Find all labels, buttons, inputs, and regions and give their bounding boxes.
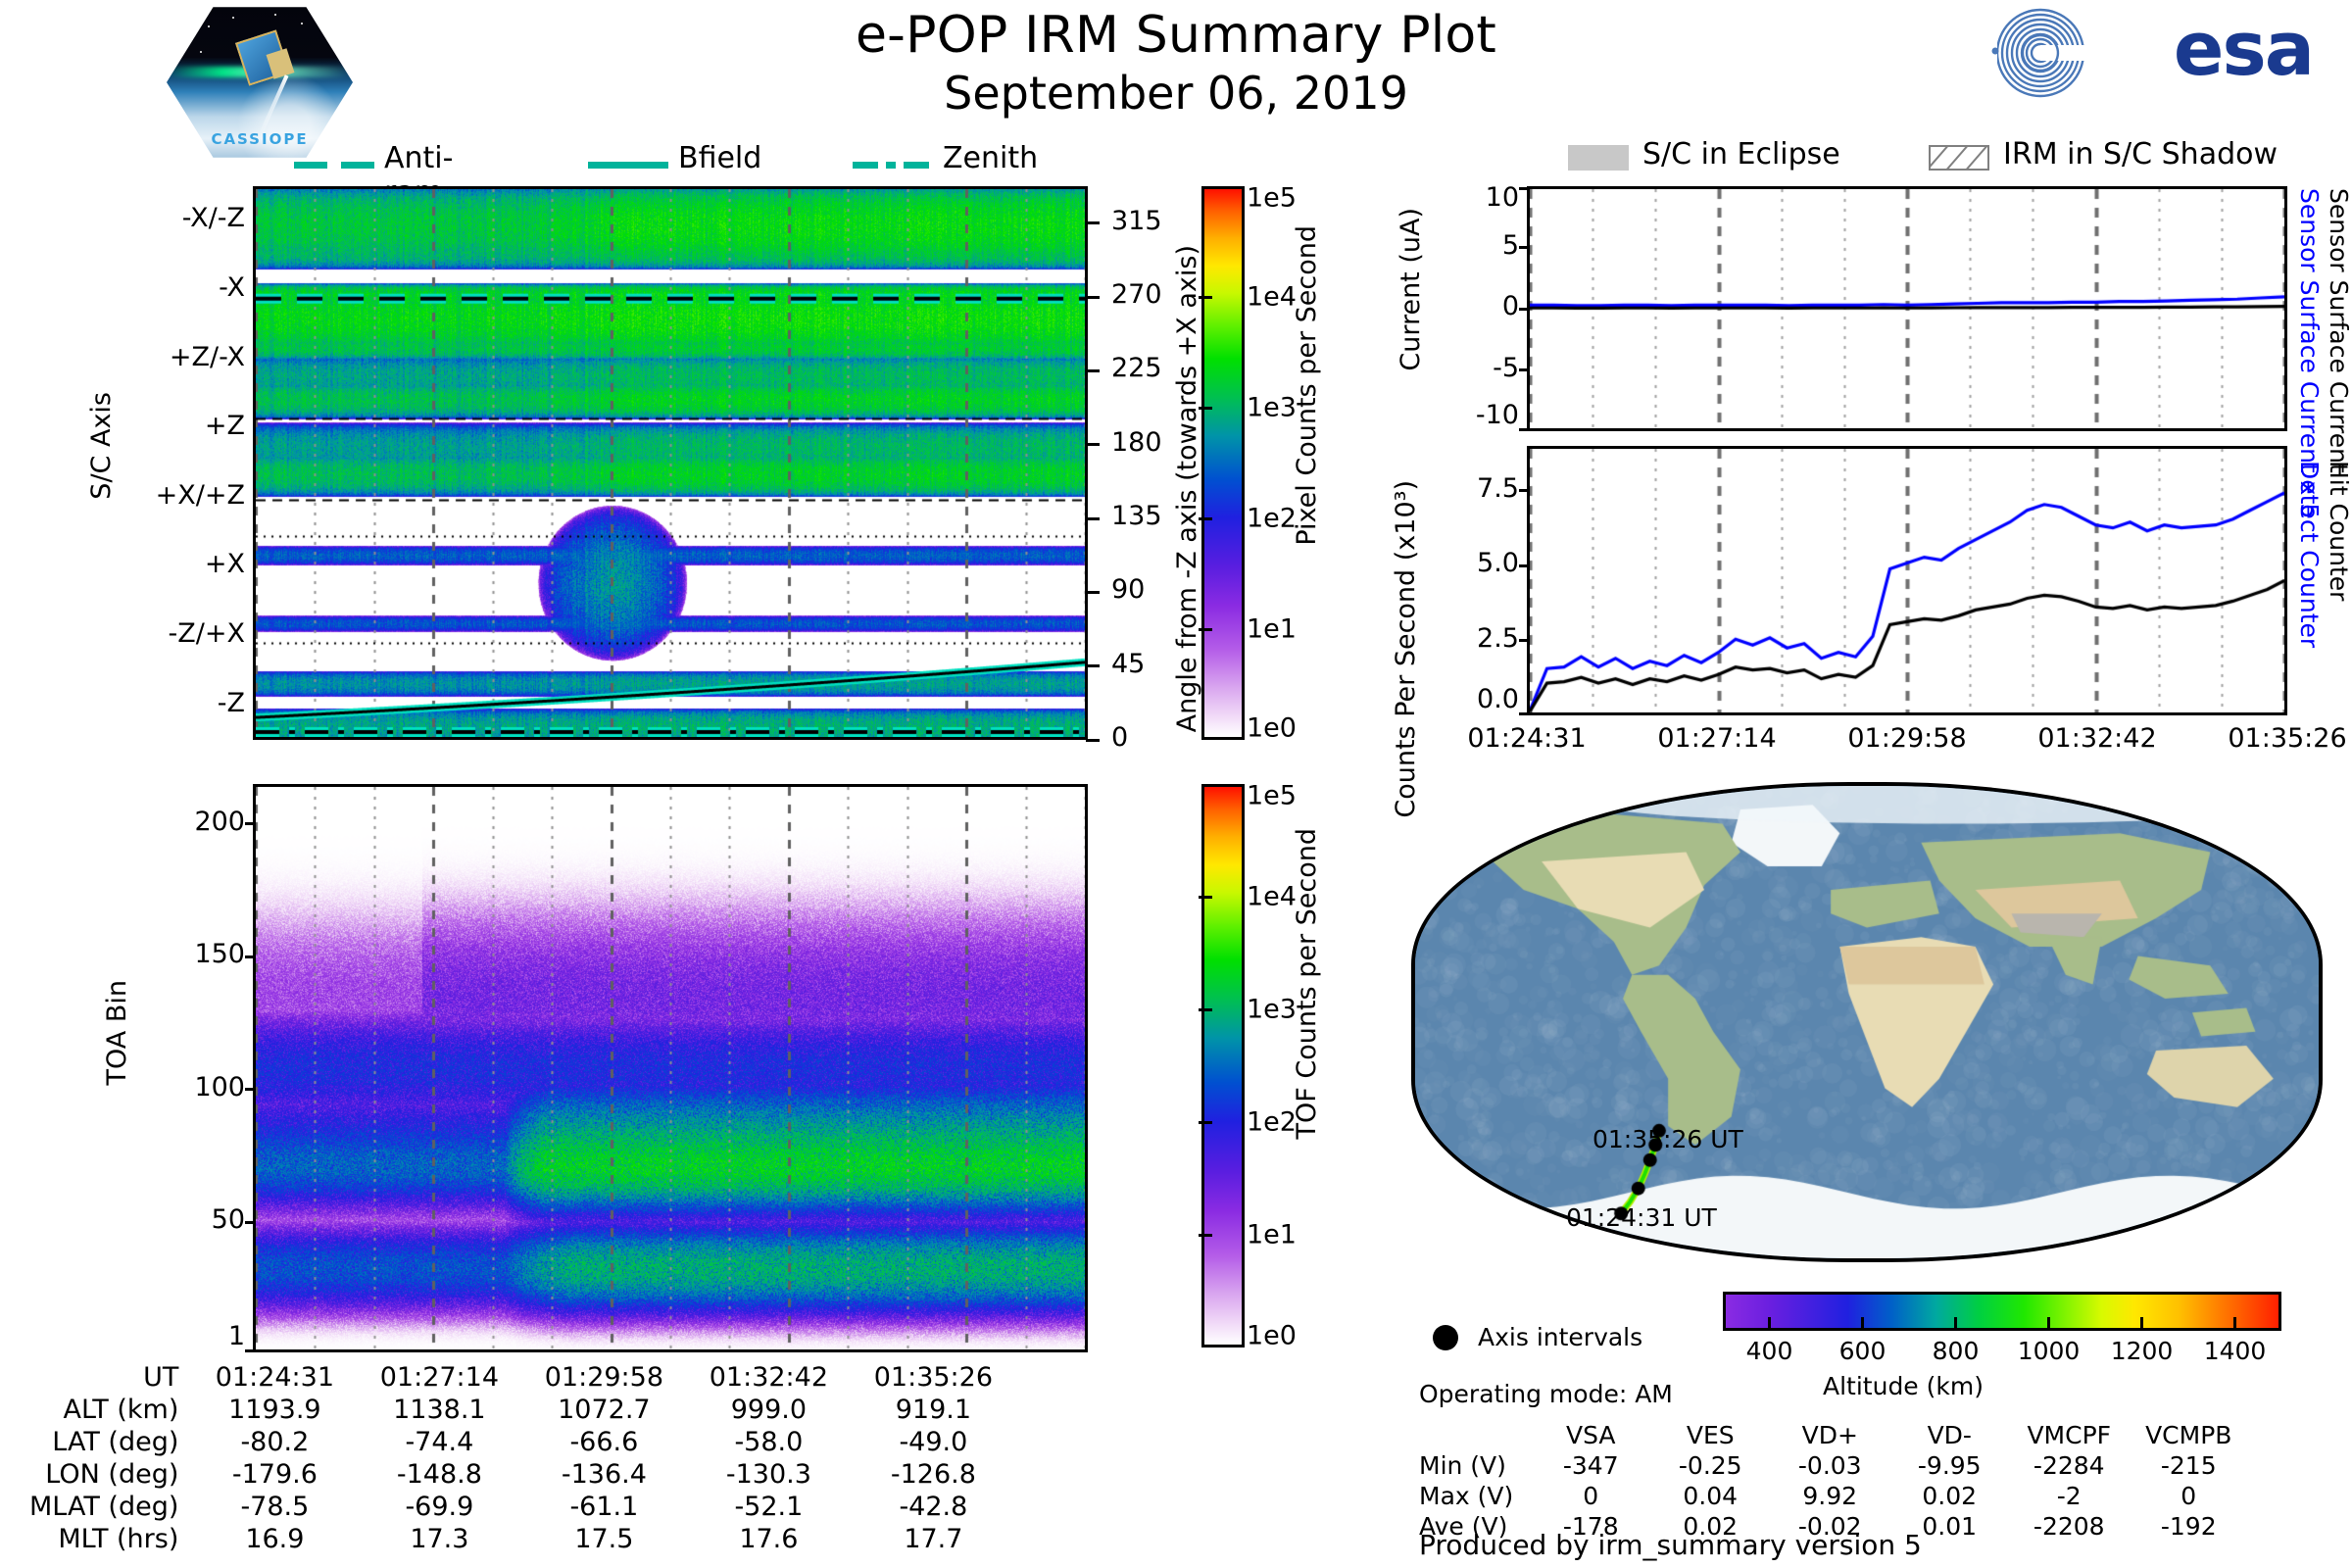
- voltage-cell: -0.03: [1770, 1451, 1889, 1482]
- voltage-cell: 0.04: [1650, 1482, 1770, 1512]
- orbit-start-time-label: 01:24:31 UT: [1566, 1203, 1717, 1232]
- voltage-cell: -215: [2129, 1451, 2248, 1482]
- toa-bin-ticklabels: 150100150200: [137, 784, 245, 1352]
- orbit-cell: -130.3: [686, 1459, 851, 1492]
- orbit-row-latdeg: LAT (deg)-80.2-74.4-66.6-58.0-49.0: [29, 1427, 1015, 1459]
- esa-wordmark: esa: [2174, 12, 2313, 86]
- legend-label-irm-shadow: IRM in S/C Shadow: [2003, 137, 2278, 171]
- altitude-ticklabel-400: 400: [1726, 1337, 1814, 1365]
- counts-ticklabel-2.5: 2.5: [1421, 623, 1519, 654]
- sc-axis-right-ticklabel-6: 45: [1111, 649, 1145, 679]
- counts-xticklabel-2: 01:29:58: [1834, 723, 1981, 754]
- colorbar-tick-1e3: [1199, 1008, 1212, 1011]
- altitude-tick-800: [1954, 1317, 1957, 1331]
- toa-bin-ylabel: TOA Bin: [102, 980, 132, 1085]
- toa-ticklabel-100: 100: [137, 1072, 245, 1102]
- sc-axis-spectrogram[interactable]: [253, 186, 1088, 740]
- sc-axis-right-ticklabel-0: 315: [1111, 206, 1162, 236]
- voltage-cell: -0.25: [1650, 1451, 1770, 1482]
- sc-axis-right-ticklabel-2: 225: [1111, 353, 1162, 383]
- sc-axis-ticklabel-5: +X: [118, 549, 245, 579]
- sc-axis-ticklabel-6: -Z/+X: [118, 618, 245, 649]
- spectrogram-legend: Anti-ram Bfield Zenith: [294, 145, 1019, 184]
- orbit-cell: 17.6: [686, 1524, 851, 1556]
- pixel-counts-colorbar-label: Pixel Counts per Second: [1292, 225, 1322, 546]
- orbit-row-label: MLAT (deg): [29, 1492, 192, 1524]
- voltage-cell: -9.95: [1889, 1451, 2009, 1482]
- colorbar-ticklabel-1e0: 1e0: [1247, 1321, 1297, 1351]
- orbit-row-label: MLT (hrs): [29, 1524, 192, 1556]
- esa-agency-logo-icon: esa: [1980, 6, 2313, 100]
- voltage-column-header: VD+: [1770, 1421, 1889, 1451]
- voltage-cell: -192: [2129, 1512, 2248, 1543]
- counts-ticklabel-7.5: 7.5: [1421, 473, 1519, 504]
- colorbar-ticklabel-1e4: 1e4: [1247, 882, 1297, 912]
- colorbar-ticklabel-1e4: 1e4: [1247, 282, 1297, 313]
- world-map[interactable]: [1411, 782, 2323, 1262]
- legend-label-zenith: Zenith: [943, 141, 1038, 175]
- orbit-cell: 1193.9: [192, 1395, 357, 1427]
- hatch-icon: [1931, 147, 1989, 171]
- colorbar-ticklabel-1e3: 1e3: [1247, 393, 1297, 423]
- toa-ticklabel-150: 150: [137, 939, 245, 969]
- toa-ticklabel-1: 1: [137, 1321, 245, 1351]
- counts-ylabel: Counts Per Second (x10³): [1390, 480, 1423, 818]
- sc-axis-right-ticklabel-3: 180: [1111, 427, 1162, 458]
- sc-axis-ticklabel-1: -X: [118, 272, 245, 303]
- footer-produced-by: Produced by irm_summary version 5: [1419, 1529, 1922, 1561]
- altitude-ticklabel-1000: 1000: [2005, 1337, 2093, 1365]
- legend-label-bfield: Bfield: [678, 141, 761, 175]
- sc-axis-ticklabel-3: +Z: [118, 411, 245, 441]
- altitude-tick-1000: [2047, 1317, 2050, 1331]
- sc-axis-right-ticklabel-4: 135: [1111, 501, 1162, 531]
- altitude-tick-1400: [2233, 1317, 2236, 1331]
- counts-series-label-hit: Hit Counter: [2325, 461, 2352, 601]
- orbit-cell: -179.6: [192, 1459, 357, 1492]
- colorbar-ticklabel-1e1: 1e1: [1247, 1220, 1297, 1250]
- sc-axis-right-tick-3: [1086, 443, 1100, 446]
- current-ticklabel-5: 5: [1421, 230, 1519, 261]
- orbit-cell: -148.8: [357, 1459, 521, 1492]
- counts-ticklabel-5.0: 5.0: [1421, 548, 1519, 578]
- colorbar-tick-1e1: [1199, 628, 1212, 631]
- sc-axis-left-ticklabels: -X/-Z-X+Z/-X+Z+X/+Z+X-Z/+X-Z: [118, 186, 245, 740]
- orbit-cell: -78.5: [192, 1492, 357, 1524]
- colorbar-tick-1e4: [1199, 296, 1212, 299]
- voltage-column-header: VCMPB: [2129, 1421, 2248, 1451]
- orbit-row-mlatdeg: MLAT (deg)-78.5-69.9-61.1-52.1-42.8: [29, 1492, 1015, 1524]
- orbit-row-ut: UT01:24:3101:27:1401:29:5801:32:4201:35:…: [29, 1362, 1015, 1395]
- current-series-label: Sensor Surface Current: [2325, 188, 2352, 473]
- altitude-ticklabel-800: 800: [1912, 1337, 2000, 1365]
- orbit-cell: -74.4: [357, 1427, 521, 1459]
- counts-xticklabel-1: 01:27:14: [1643, 723, 1790, 754]
- orbit-cell: -69.9: [357, 1492, 521, 1524]
- operating-mode-label: Operating mode: AM: [1419, 1380, 1673, 1408]
- counts-time-axis: 01:24:3101:27:1401:29:5801:32:4201:35:26: [1421, 723, 2352, 762]
- esa-swirl-icon: [1980, 6, 2107, 100]
- voltage-cell: -2: [2009, 1482, 2129, 1512]
- orbit-end-time-label: 01:35:26 UT: [1592, 1125, 1743, 1153]
- orbit-cell: 1138.1: [357, 1395, 521, 1427]
- sc-axis-right-tick-7: [1086, 739, 1100, 742]
- voltage-column-header: VMCPF: [2009, 1421, 2129, 1451]
- colorbar-tick-1e2: [1199, 1121, 1212, 1124]
- current-ticklabel-10: 10: [1421, 182, 1519, 213]
- altitude-colorbar-ticklabels: 400600800100012001400: [1666, 1331, 2352, 1376]
- orbit-cell: 01:27:14: [357, 1362, 521, 1395]
- orbit-cell: 01:32:42: [686, 1362, 851, 1395]
- colorbar-tick-1e4: [1199, 896, 1212, 899]
- orbit-cell: -61.1: [521, 1492, 686, 1524]
- voltage-column-header: VSA: [1531, 1421, 1650, 1451]
- voltage-cell: 9.92: [1770, 1482, 1889, 1512]
- voltage-cell: -2208: [2009, 1512, 2129, 1543]
- orbit-cell: -126.8: [851, 1459, 1015, 1492]
- sc-axis-right-ticklabel-5: 90: [1111, 574, 1145, 605]
- legend-swatch-eclipse: [1568, 145, 1629, 171]
- orbit-row-altkm: ALT (km)1193.91138.11072.7999.0919.1: [29, 1395, 1015, 1427]
- sc-axis-right-ticklabel-7: 0: [1111, 722, 1128, 753]
- voltage-cell: 0.02: [1889, 1482, 2009, 1512]
- orbit-cell: 01:35:26: [851, 1362, 1015, 1395]
- legend-label-eclipse: S/C in Eclipse: [1642, 137, 1840, 171]
- orbit-cell: -49.0: [851, 1427, 1015, 1459]
- voltage-header-row: VSAVESVD+VD-VMCPFVCMPB: [1419, 1421, 2248, 1451]
- cassiope-mission-logo-icon: CASSIOPE: [167, 4, 353, 161]
- orbit-cell: 17.3: [357, 1524, 521, 1556]
- counts-ticklabels: 0.02.55.07.5: [1421, 446, 1519, 715]
- altitude-ticklabel-1200: 1200: [2098, 1337, 2186, 1365]
- sc-axis-ticklabel-4: +X/+Z: [118, 480, 245, 511]
- orbit-cell: -58.0: [686, 1427, 851, 1459]
- sc-axis-ticklabel-2: +Z/-X: [118, 342, 245, 372]
- orbit-cell: -52.1: [686, 1492, 851, 1524]
- sc-axis-right-tick-0: [1086, 221, 1100, 224]
- counts-xticklabel-4: 01:35:26: [2214, 723, 2352, 754]
- altitude-colorbar-label: Altitude (km): [1823, 1372, 1984, 1400]
- orbit-row-londeg: LON (deg)-179.6-148.8-136.4-130.3-126.8: [29, 1459, 1015, 1492]
- orbit-cell: 17.5: [521, 1524, 686, 1556]
- orbit-parameter-table: UT01:24:3101:27:1401:29:5801:32:4201:35:…: [29, 1362, 1015, 1556]
- sc-axis-ylabel: S/C Axis: [86, 392, 117, 500]
- altitude-ticklabel-600: 600: [1819, 1337, 1907, 1365]
- orbit-cell: -80.2: [192, 1427, 357, 1459]
- altitude-tick-600: [1861, 1317, 1864, 1331]
- tof-counts-colorbar-label: TOF Counts per Second: [1292, 828, 1322, 1140]
- voltage-column-header: VD-: [1889, 1421, 2009, 1451]
- colorbar-ticklabel-1e2: 1e2: [1247, 1107, 1297, 1138]
- current-panel[interactable]: [1527, 186, 2287, 431]
- colorbar-ticklabel-1e0: 1e0: [1247, 713, 1297, 744]
- sc-axis-right-tick-6: [1086, 664, 1100, 667]
- current-ticklabels: -10-50510: [1421, 186, 1519, 431]
- colorbar-tick-1e2: [1199, 517, 1212, 520]
- sc-axis-y2label: Angle from -Z axis (towards +X axis): [1172, 245, 1202, 732]
- voltage-row-label: Max (V): [1419, 1482, 1531, 1512]
- orbit-row-mlthrs: MLT (hrs)16.917.317.517.617.7: [29, 1524, 1015, 1556]
- sc-axis-right-ticklabel-1: 270: [1111, 279, 1162, 310]
- current-ticklabel--10: -10: [1421, 400, 1519, 430]
- voltage-cell: -2284: [2009, 1451, 2129, 1482]
- colorbar-ticklabel-1e3: 1e3: [1247, 995, 1297, 1025]
- sc-axis-right-tick-1: [1086, 296, 1100, 299]
- orbit-cell: 17.7: [851, 1524, 1015, 1556]
- current-ticklabel--5: -5: [1421, 353, 1519, 383]
- colorbar-ticklabel-1e2: 1e2: [1247, 504, 1297, 534]
- axis-intervals-label: Axis intervals: [1478, 1323, 1642, 1351]
- legend-swatch-irm-shadow: [1929, 145, 1989, 171]
- orbit-row-label: LAT (deg): [29, 1427, 192, 1459]
- sc-axis-right-tick-2: [1086, 369, 1100, 372]
- sc-axis-ticklabel-0: -X/-Z: [118, 203, 245, 233]
- counts-xticklabel-0: 01:24:31: [1453, 723, 1600, 754]
- sc-axis-ticklabel-7: -Z: [118, 688, 245, 718]
- toa-ticklabel-200: 200: [137, 807, 245, 837]
- voltage-stats-table: VSAVESVD+VD-VMCPFVCMPBMin (V)-347-0.25-0…: [1419, 1421, 2248, 1543]
- orbit-cell: 01:24:31: [192, 1362, 357, 1395]
- counts-xticklabel-3: 01:32:42: [2024, 723, 2171, 754]
- orbit-cell: -66.6: [521, 1427, 686, 1459]
- toa-bin-spectrogram[interactable]: [253, 784, 1088, 1352]
- orbit-cell: 919.1: [851, 1395, 1015, 1427]
- eclipse-legend: S/C in Eclipse IRM in S/C Shadow: [1568, 137, 2332, 176]
- altitude-colorbar: [1723, 1292, 2281, 1331]
- orbit-row-label: UT: [29, 1362, 192, 1395]
- colorbar-ticklabel-1e5: 1e5: [1247, 781, 1297, 811]
- voltage-row-label: Min (V): [1419, 1451, 1531, 1482]
- colorbar-ticklabel-1e5: 1e5: [1247, 183, 1297, 214]
- orbit-row-label: LON (deg): [29, 1459, 192, 1492]
- orbit-cell: -42.8: [851, 1492, 1015, 1524]
- counts-panel[interactable]: [1527, 446, 2287, 715]
- current-ticklabel-0: 0: [1421, 291, 1519, 321]
- counts-ticklabel-0.0: 0.0: [1421, 684, 1519, 714]
- voltage-cell: 0: [2129, 1482, 2248, 1512]
- sc-axis-right-tick-5: [1086, 591, 1100, 594]
- colorbar-tick-1e3: [1199, 407, 1212, 410]
- voltage-cell: -347: [1531, 1451, 1650, 1482]
- orbit-cell: 16.9: [192, 1524, 357, 1556]
- orbit-cell: 1072.7: [521, 1395, 686, 1427]
- voltage-row: Max (V)00.049.920.02-20: [1419, 1482, 2248, 1512]
- voltage-column-header: VES: [1650, 1421, 1770, 1451]
- toa-ticklabel-50: 50: [137, 1204, 245, 1235]
- axis-interval-marker-icon: [1433, 1325, 1458, 1350]
- altitude-tick-400: [1768, 1317, 1771, 1331]
- orbit-cell: 01:29:58: [521, 1362, 686, 1395]
- colorbar-ticklabel-1e1: 1e1: [1247, 614, 1297, 645]
- orbit-row-label: ALT (km): [29, 1395, 192, 1427]
- sc-axis-right-tick-4: [1086, 517, 1100, 520]
- voltage-row: Min (V)-347-0.25-0.03-9.95-2284-215: [1419, 1451, 2248, 1482]
- voltage-corner: [1419, 1421, 1531, 1451]
- orbit-cell: 999.0: [686, 1395, 851, 1427]
- counts-series-label-detect: Detect Counter: [2295, 461, 2324, 648]
- voltage-cell: 0: [1531, 1482, 1650, 1512]
- altitude-tick-1200: [2140, 1317, 2143, 1331]
- colorbar-tick-1e1: [1199, 1234, 1212, 1237]
- orbit-cell: -136.4: [521, 1459, 686, 1492]
- altitude-ticklabel-1400: 1400: [2191, 1337, 2279, 1365]
